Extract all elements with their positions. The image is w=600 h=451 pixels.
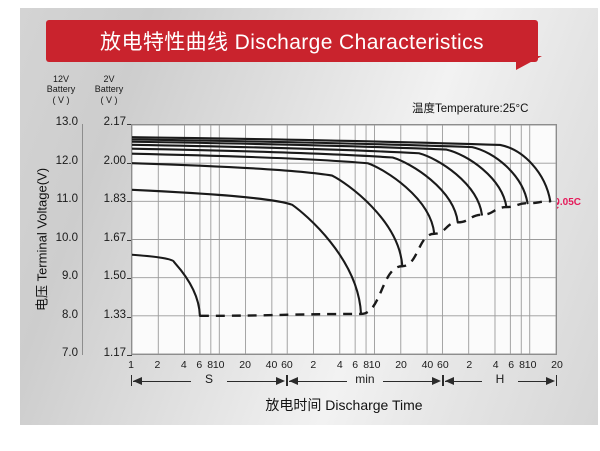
x-tick-14: 20 — [391, 359, 411, 371]
x-tick-5: 10 — [209, 359, 229, 371]
y-tick-2v-4: 1.50 — [86, 270, 126, 282]
range-label-minutes: min — [345, 372, 385, 386]
range-line-right-seconds — [227, 381, 277, 382]
range-bar-hours: H — [443, 375, 557, 389]
y-tick-12v-4: 9.0 — [34, 270, 78, 282]
curve-label-0-05C: 0.05C — [554, 197, 581, 208]
chart-page: 放电特性曲线 Discharge Characteristics 12V Bat… — [0, 0, 600, 451]
y-tick-12v-5: 8.0 — [34, 309, 78, 321]
range-label-hours: H — [480, 372, 520, 386]
range-label-seconds: S — [189, 372, 229, 386]
y-axis-header-12v: 12V Battery ( V ) — [38, 74, 84, 105]
range-line-right-minutes — [383, 381, 433, 382]
y-tick-2v-2: 1.83 — [86, 193, 126, 205]
y-axis-header-2v-line2: Battery — [86, 84, 132, 94]
x-tick-16: 60 — [433, 359, 453, 371]
x-tick-13: 10 — [365, 359, 385, 371]
range-cap-right-hours — [556, 375, 557, 386]
y-axis-header-2v: 2V Battery ( V ) — [86, 74, 132, 105]
y-axis-divider — [82, 124, 83, 355]
y-tick-12v-0: 13.0 — [34, 116, 78, 128]
x-tick-8: 60 — [277, 359, 297, 371]
range-arrow-right-hours — [546, 377, 555, 385]
y-axis-header-12v-line1: 12V — [38, 74, 84, 84]
y-tick-2v-0: 2.17 — [86, 116, 126, 128]
range-cap-left-minutes — [287, 375, 288, 386]
y-tick-mark-6 — [127, 355, 132, 356]
y-tick-2v-1: 2.00 — [86, 155, 126, 167]
y-tick-12v-3: 10.0 — [34, 232, 78, 244]
x-tick-0: 1 — [121, 359, 141, 371]
x-tick-17: 2 — [459, 359, 479, 371]
range-line-right-hours — [518, 381, 547, 382]
range-cap-left-seconds — [131, 375, 132, 386]
y-tick-12v-6: 7.0 — [34, 347, 78, 359]
x-tick-1: 2 — [147, 359, 167, 371]
plot-area — [131, 124, 557, 355]
range-bar-minutes: min — [287, 375, 443, 389]
y-axis-header-12v-line2: Battery — [38, 84, 84, 94]
y-tick-12v-1: 12.0 — [34, 155, 78, 167]
x-tick-6: 20 — [235, 359, 255, 371]
y-axis-header-2v-line3: ( V ) — [86, 95, 132, 105]
range-arrow-right-minutes — [432, 377, 441, 385]
y-axis-header-2v-line1: 2V — [86, 74, 132, 84]
x-tick-22: 20 — [547, 359, 567, 371]
x-tick-21: 10 — [521, 359, 541, 371]
range-arrow-right-seconds — [276, 377, 285, 385]
page-title: 放电特性曲线 Discharge Characteristics — [46, 20, 538, 62]
temperature-note: 温度Temperature:25°C — [412, 100, 528, 116]
y-axis-header-12v-line3: ( V ) — [38, 95, 84, 105]
y-tick-2v-3: 1.67 — [86, 232, 126, 244]
y-tick-2v-6: 1.17 — [86, 347, 126, 359]
range-bar-seconds: S — [131, 375, 287, 389]
range-cap-left-hours — [443, 375, 444, 386]
x-tick-9: 2 — [303, 359, 323, 371]
y-tick-2v-5: 1.33 — [86, 309, 126, 321]
discharge-curves — [132, 125, 556, 354]
y-tick-12v-2: 11.0 — [34, 193, 78, 205]
range-arrow-left-minutes — [289, 377, 298, 385]
range-arrow-left-seconds — [133, 377, 142, 385]
range-arrow-left-hours — [445, 377, 454, 385]
x-axis-title: 放电时间 Discharge Time — [131, 395, 557, 415]
